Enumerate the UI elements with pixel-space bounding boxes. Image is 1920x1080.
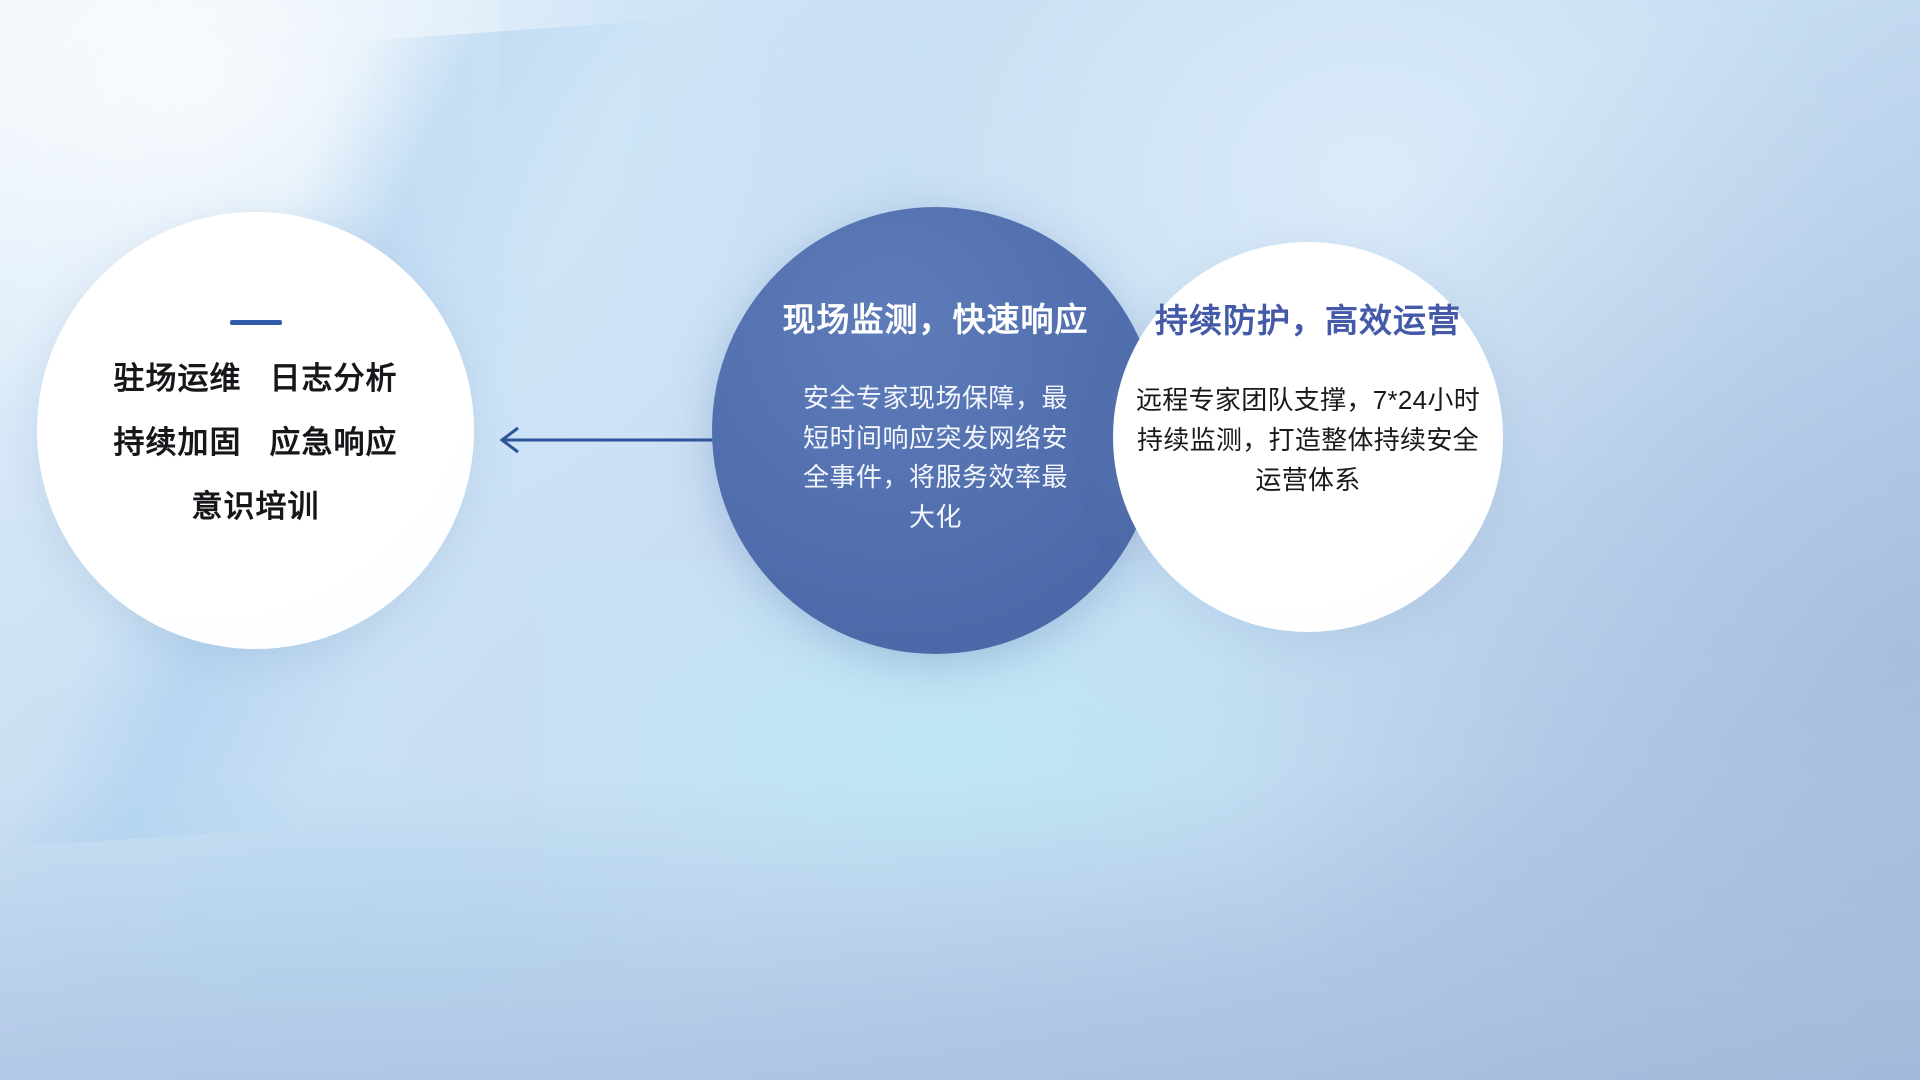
capability-tag-row: 意识培训 [37,491,474,522]
continuous-operation-body: 远程专家团队支撑，7*24小时持续监测，打造整体持续安全运营体系 [1129,380,1487,500]
capability-tag-list: 驻场运维 日志分析 持续加固 应急响应 意识培训 [37,363,474,522]
onsite-response-body: 安全专家现场保障，最短时间响应突发网络安全事件，将服务效率最大化 [800,379,1072,537]
onsite-response-title: 现场监测，快速响应 [783,293,1089,341]
arrow-left-icon [488,418,738,462]
horizontal-dash-icon [230,320,282,325]
continuous-operation-circle: 持续防护，高效运营 远程专家团队支撑，7*24小时持续监测，打造整体持续安全运营… [1113,242,1503,632]
capability-tag: 意识培训 [192,491,320,522]
capability-tag-row: 驻场运维 日志分析 [37,363,474,394]
capability-tag-row: 持续加固 应急响应 [37,427,474,458]
slide-canvas: 驻场运维 日志分析 持续加固 应急响应 意识培训 现场监测，快速响应 安全专家现… [0,0,1920,1080]
capability-tag: 持续加固 [114,427,242,458]
onsite-response-circle: 现场监测，快速响应 安全专家现场保障，最短时间响应突发网络安全事件，将服务效率最… [712,207,1159,654]
capability-tag: 驻场运维 [114,363,242,394]
background-bottom-shade [0,780,1920,1080]
capability-tags-circle: 驻场运维 日志分析 持续加固 应急响应 意识培训 [37,212,474,649]
continuous-operation-title: 持续防护，高效运营 [1155,294,1461,342]
capability-tag: 日志分析 [270,363,398,394]
capability-tag: 应急响应 [270,427,398,458]
